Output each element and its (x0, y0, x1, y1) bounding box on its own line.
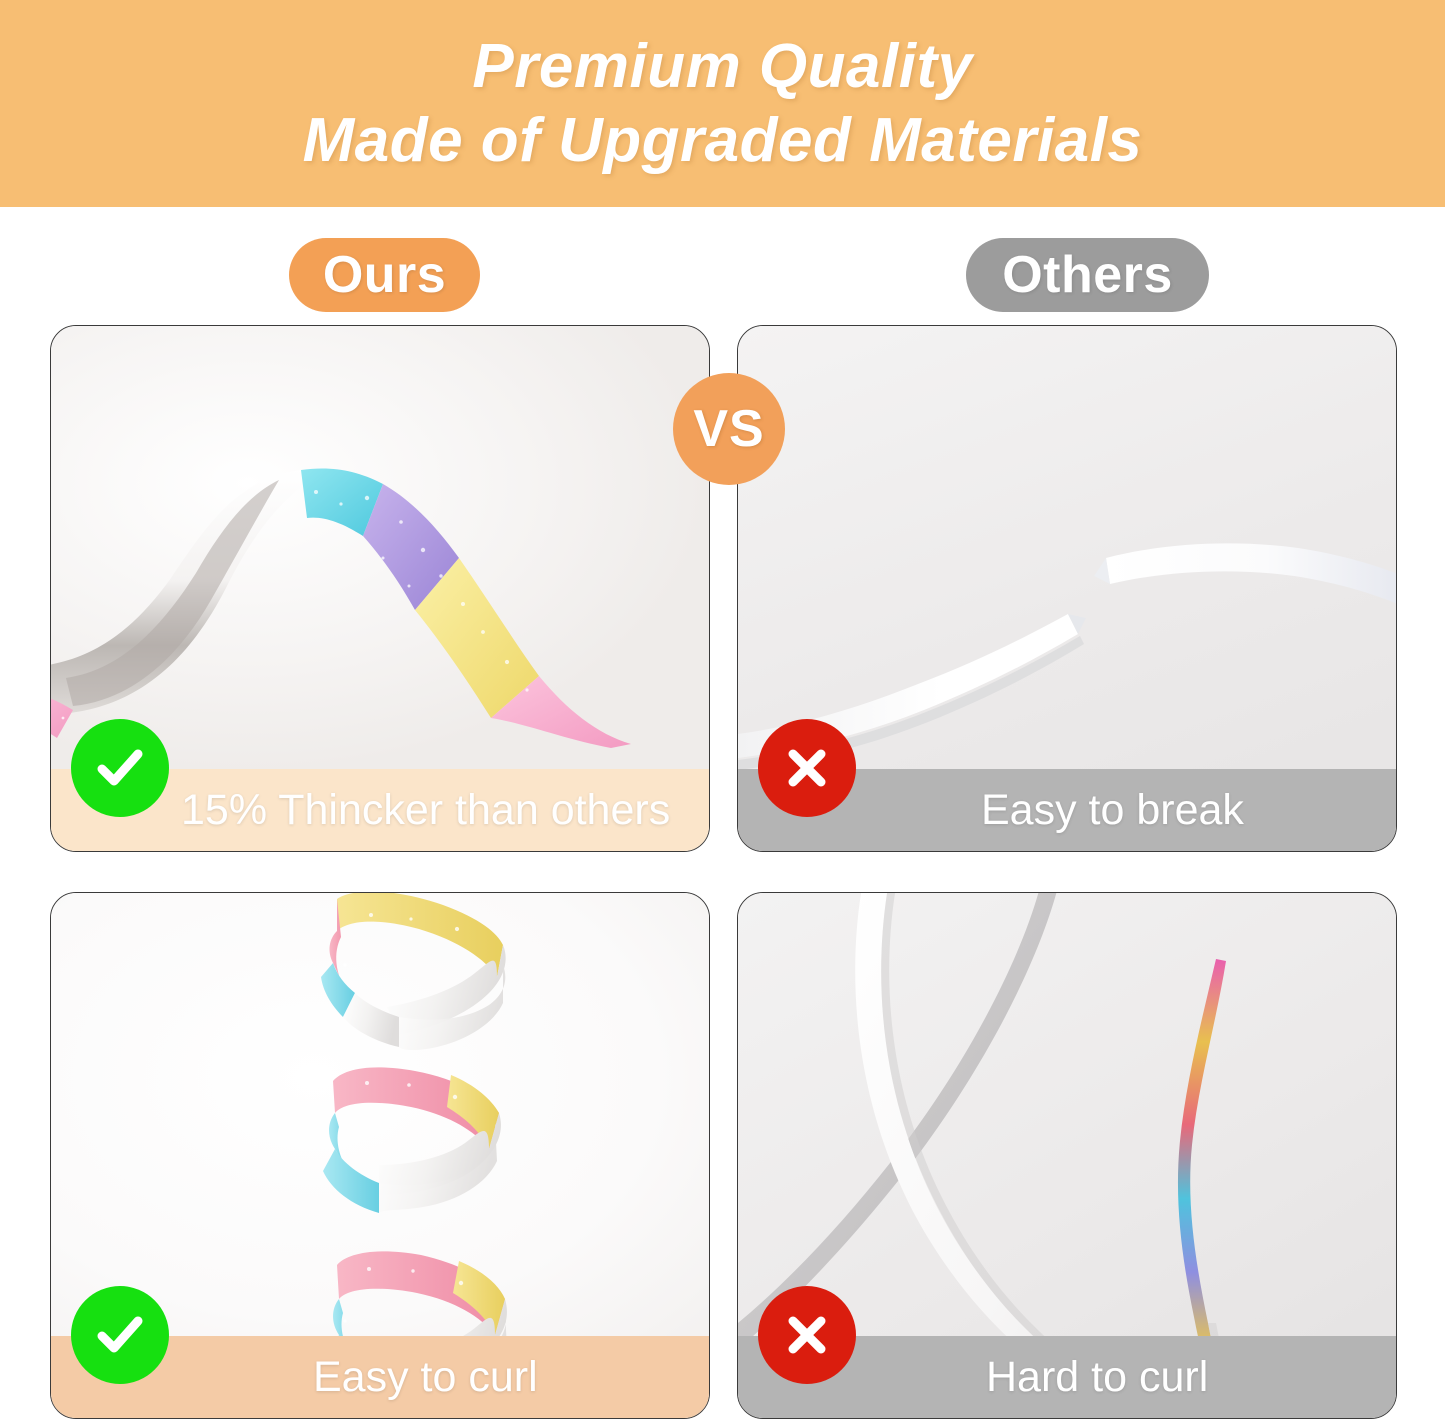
panel-others-breakage: Easy to break (737, 325, 1397, 852)
others-label-text: Others (1002, 249, 1173, 301)
caption-text: Easy to curl (313, 1356, 538, 1399)
panel-ours-thickness: 15% Thincker than others (50, 325, 710, 852)
banner-title-line-2: Made of Upgraded Materials (303, 104, 1143, 177)
comparison-grid: 15% Thincker than others (50, 325, 1397, 1419)
vs-badge: VS (673, 373, 785, 485)
check-icon (71, 719, 169, 817)
panel-ours-curl: Easy to curl (50, 892, 710, 1419)
product-comparison-infographic: Premium Quality Made of Upgraded Materia… (0, 0, 1445, 1426)
cross-icon (758, 1286, 856, 1384)
ribbon-arc-illustration (51, 418, 709, 748)
column-headers: Ours Others (0, 238, 1445, 322)
header-banner: Premium Quality Made of Upgraded Materia… (0, 0, 1445, 207)
vs-badge-label: VS (693, 403, 764, 455)
caption-text: Hard to curl (986, 1356, 1208, 1399)
ours-label-text: Ours (323, 249, 446, 301)
check-icon (71, 1286, 169, 1384)
banner-title-line-1: Premium Quality (472, 30, 972, 103)
column-label-others: Others (966, 238, 1209, 312)
caption-text: 15% Thincker than others (181, 789, 670, 832)
cross-icon (758, 719, 856, 817)
column-label-ours: Ours (289, 238, 480, 312)
panel-others-curl: Hard to curl (737, 892, 1397, 1419)
caption-text: Easy to break (981, 789, 1244, 832)
